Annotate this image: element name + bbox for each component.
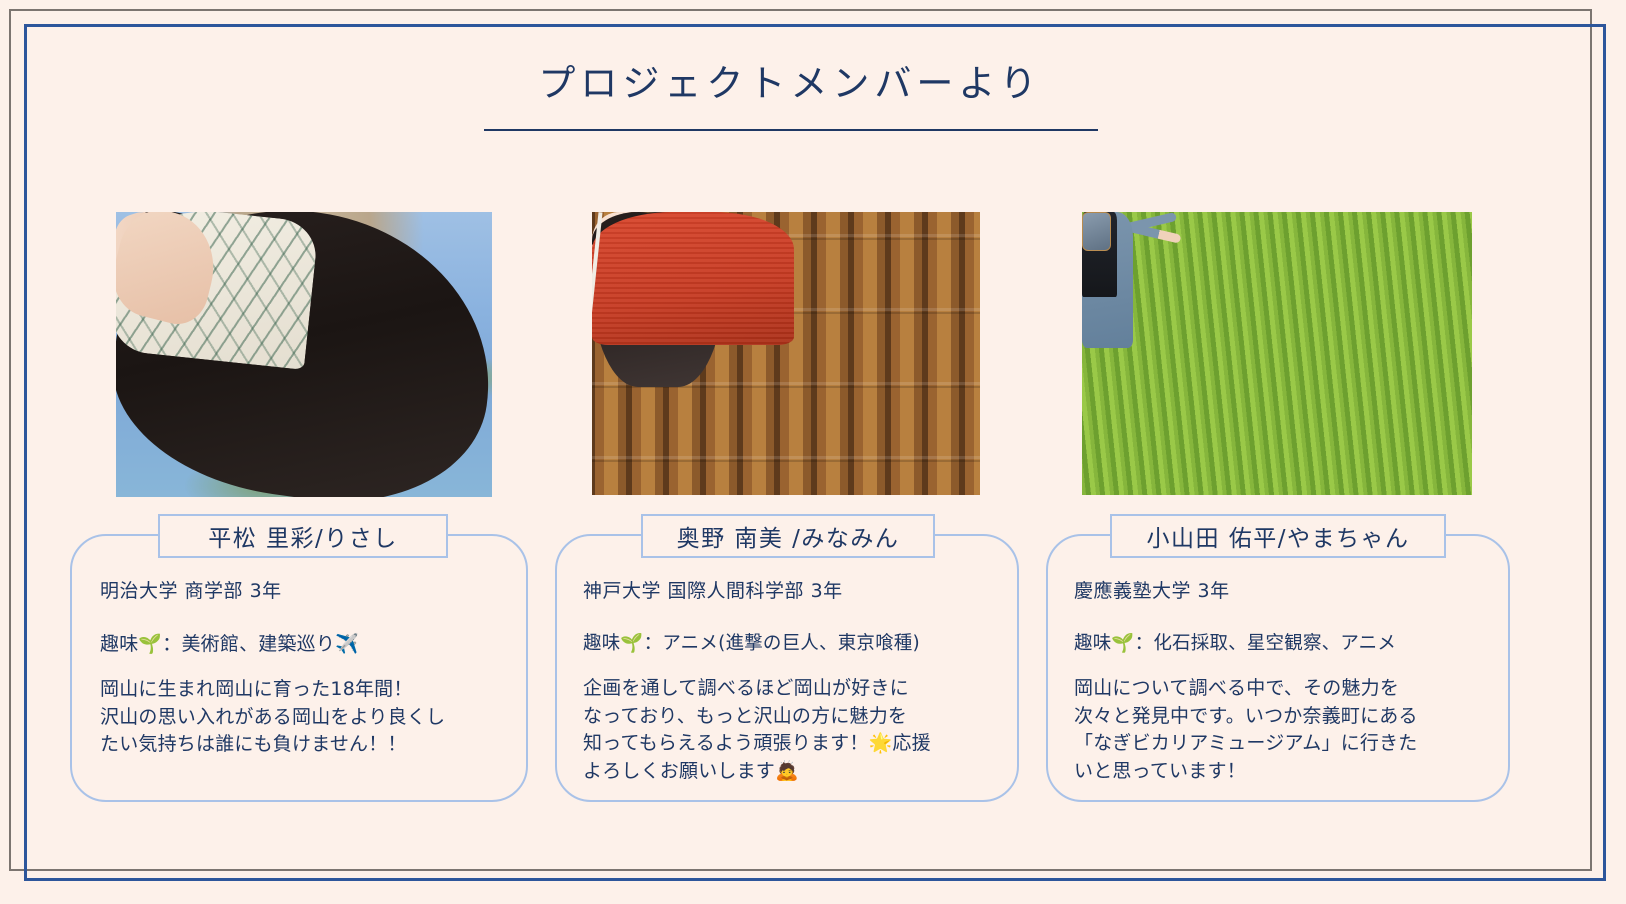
member-name-1: 平松 里彩/りさし xyxy=(208,519,398,553)
member-photo-1 xyxy=(116,212,492,497)
member-name-box-3: 小山田 佑平/やまちゃん xyxy=(1110,514,1446,558)
hobby-label-1: 趣味 xyxy=(100,633,138,655)
member-bio-1: 岡山に生まれ岡山に育った18年間！ 沢山の思い入れがある岡山をより良くし たい気… xyxy=(100,676,520,759)
hobby-text-1: ：美術館、建築巡り xyxy=(162,633,335,655)
member-hobby-1: 趣味🌱：美術館、建築巡り✈️ xyxy=(100,629,520,656)
member-hobby-2: 趣味🌱：アニメ(進撃の巨人、東京喰種) xyxy=(583,629,1013,655)
member-school-2: 神戸大学 国際人間科学部 3年 xyxy=(583,576,1013,603)
member-hobby-3: 趣味🌱：化石採取、星空観察、アニメ xyxy=(1074,629,1504,655)
title-underline xyxy=(484,129,1098,131)
member-photo-3 xyxy=(1082,212,1472,495)
member-bio-3: 岡山について調べる中で、その魅力を 次々と発見中です。いつか奈義町にある 「なぎ… xyxy=(1074,675,1504,785)
slide-canvas: プロジェクトメンバーより xyxy=(0,0,1626,904)
member-details-3: 慶應義塾大学 3年 趣味🌱：化石採取、星空観察、アニメ 岡山について調べる中で、… xyxy=(1074,576,1504,785)
grass-layer xyxy=(1082,212,1472,495)
member-details-2: 神戸大学 国際人間科学部 3年 趣味🌱：アニメ(進撃の巨人、東京喰種) 企画を通… xyxy=(583,576,1013,785)
member-name-box-1: 平松 里彩/りさし xyxy=(158,514,448,558)
member-name-2: 奥野 南美 /みなみん xyxy=(677,519,900,553)
member-school-3: 慶應義塾大学 3年 xyxy=(1074,576,1504,603)
hobby-label-3: 趣味 xyxy=(1074,633,1111,654)
seedling-icon: 🌱 xyxy=(1111,633,1134,654)
hobby-text-2: ：アニメ(進撃の巨人、東京喰種) xyxy=(644,633,920,654)
member-school-1: 明治大学 商学部 3年 xyxy=(100,576,520,603)
member-name-3: 小山田 佑平/やまちゃん xyxy=(1146,519,1409,553)
sling-bag-shape xyxy=(1082,212,1111,251)
member-name-box-2: 奥野 南美 /みなみん xyxy=(641,514,935,558)
seedling-icon: 🌱 xyxy=(138,633,162,655)
red-sweater-shape xyxy=(592,212,794,345)
hobby-text-3: ：化石採取、星空観察、アニメ xyxy=(1135,633,1396,654)
member-details-1: 明治大学 商学部 3年 趣味🌱：美術館、建築巡り✈️ 岡山に生まれ岡山に育った1… xyxy=(100,576,520,759)
hobby-label-2: 趣味 xyxy=(583,633,620,654)
seedling-icon: 🌱 xyxy=(620,633,643,654)
member-photo-2 xyxy=(592,212,980,495)
airplane-icon: ✈️ xyxy=(335,633,359,655)
page-title-text: プロジェクトメンバーより xyxy=(538,62,1041,106)
page-title: プロジェクトメンバーより xyxy=(0,62,1580,106)
member-bio-2: 企画を通して調べるほど岡山が好きに なっており、もっと沢山の方に魅力を 知っても… xyxy=(583,675,1013,785)
